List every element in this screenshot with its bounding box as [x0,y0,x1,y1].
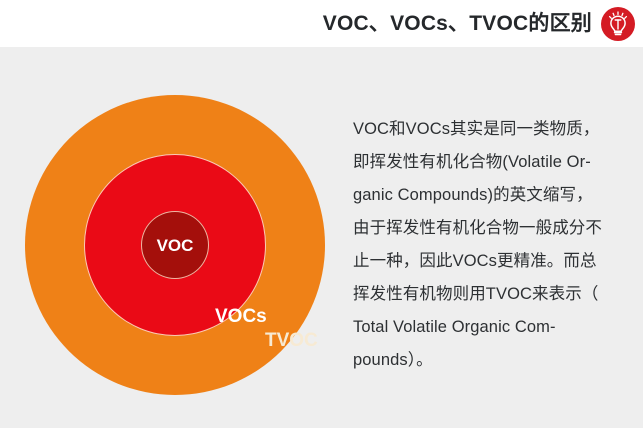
page-title: VOC、VOCs、TVOC的区别 [323,13,592,35]
nested-circles-diagram: VOC VOCs TVOC [25,95,325,395]
lightbulb-icon [601,7,635,41]
description-paragraph: VOC和VOCs其实是同一类物质， 即挥发性有机化合物(Volatile Or-… [353,113,641,377]
page-root: VOC、VOCs、TVOC的区别 [0,0,643,428]
description-line: 挥发性有机物则用TVOC来表示（ [353,278,641,311]
description-line: Total Volatile Organic Com- [353,311,641,344]
circle-label-voc: VOC [148,237,202,254]
description-line: 止一种，因此VOCs更精准。而总 [353,245,641,278]
header-bar: VOC、VOCs、TVOC的区别 [0,0,643,47]
circle-label-vocs: VOCs [215,307,267,326]
description-line: pounds）。 [353,344,641,377]
description-line: 由于挥发性有机化合物一般成分不 [353,212,641,245]
description-line: ganic Compounds)的英文缩写， [353,179,641,212]
circle-label-tvoc: TVOC [265,331,318,350]
description-line: 即挥发性有机化合物(Volatile Or- [353,146,641,179]
header-content: VOC、VOCs、TVOC的区别 [323,0,635,47]
description-line: VOC和VOCs其实是同一类物质， [353,113,641,146]
content-area: VOC VOCs TVOC VOC和VOCs其实是同一类物质， 即挥发性有机化合… [0,47,643,428]
